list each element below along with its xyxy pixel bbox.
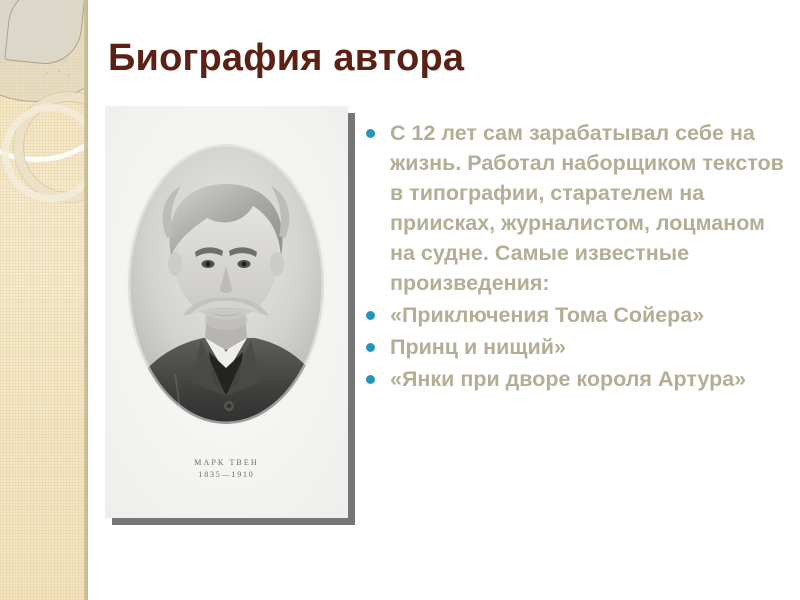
portrait-figure: МАРК ТВЕН 1835—1910 bbox=[105, 106, 348, 518]
decorative-dot bbox=[58, 70, 60, 72]
portrait-photo-illustration bbox=[105, 106, 348, 518]
list-item: «Янки при дворе короля Артура» bbox=[362, 364, 792, 394]
decorative-sidebar bbox=[0, 0, 88, 600]
bullet-dot-icon bbox=[366, 129, 375, 138]
list-item-text: С 12 лет сам зарабатывал себе на жизнь. … bbox=[390, 121, 784, 295]
list-item-text: «Приключения Тома Сойера» bbox=[390, 303, 704, 327]
list-item-text: «Янки при дворе короля Артура» bbox=[390, 367, 746, 391]
portrait-image: МАРК ТВЕН 1835—1910 bbox=[105, 106, 348, 518]
portrait-caption-name: МАРК ТВЕН bbox=[105, 458, 348, 467]
bullet-list: С 12 лет сам зарабатывал себе на жизнь. … bbox=[362, 118, 792, 396]
decorative-ring-inner bbox=[2, 104, 88, 202]
list-item: Принц и нищий» bbox=[362, 332, 792, 362]
sidebar-edge-line bbox=[84, 0, 88, 600]
portrait-caption: МАРК ТВЕН 1835—1910 bbox=[105, 458, 348, 479]
slide-canvas: Биография автора bbox=[0, 0, 800, 600]
bullet-dot-icon bbox=[366, 311, 375, 320]
slide-title: Биография автора bbox=[108, 36, 768, 82]
list-item: «Приключения Тома Сойера» bbox=[362, 300, 792, 330]
portrait-caption-dates: 1835—1910 bbox=[105, 470, 348, 479]
bullet-dot-icon bbox=[366, 375, 375, 384]
decorative-dot bbox=[68, 74, 70, 76]
decorative-dot bbox=[46, 72, 48, 74]
list-item: С 12 лет сам зарабатывал себе на жизнь. … bbox=[362, 118, 792, 298]
bullet-dot-icon bbox=[366, 343, 375, 352]
list-item-text: Принц и нищий» bbox=[390, 335, 566, 359]
